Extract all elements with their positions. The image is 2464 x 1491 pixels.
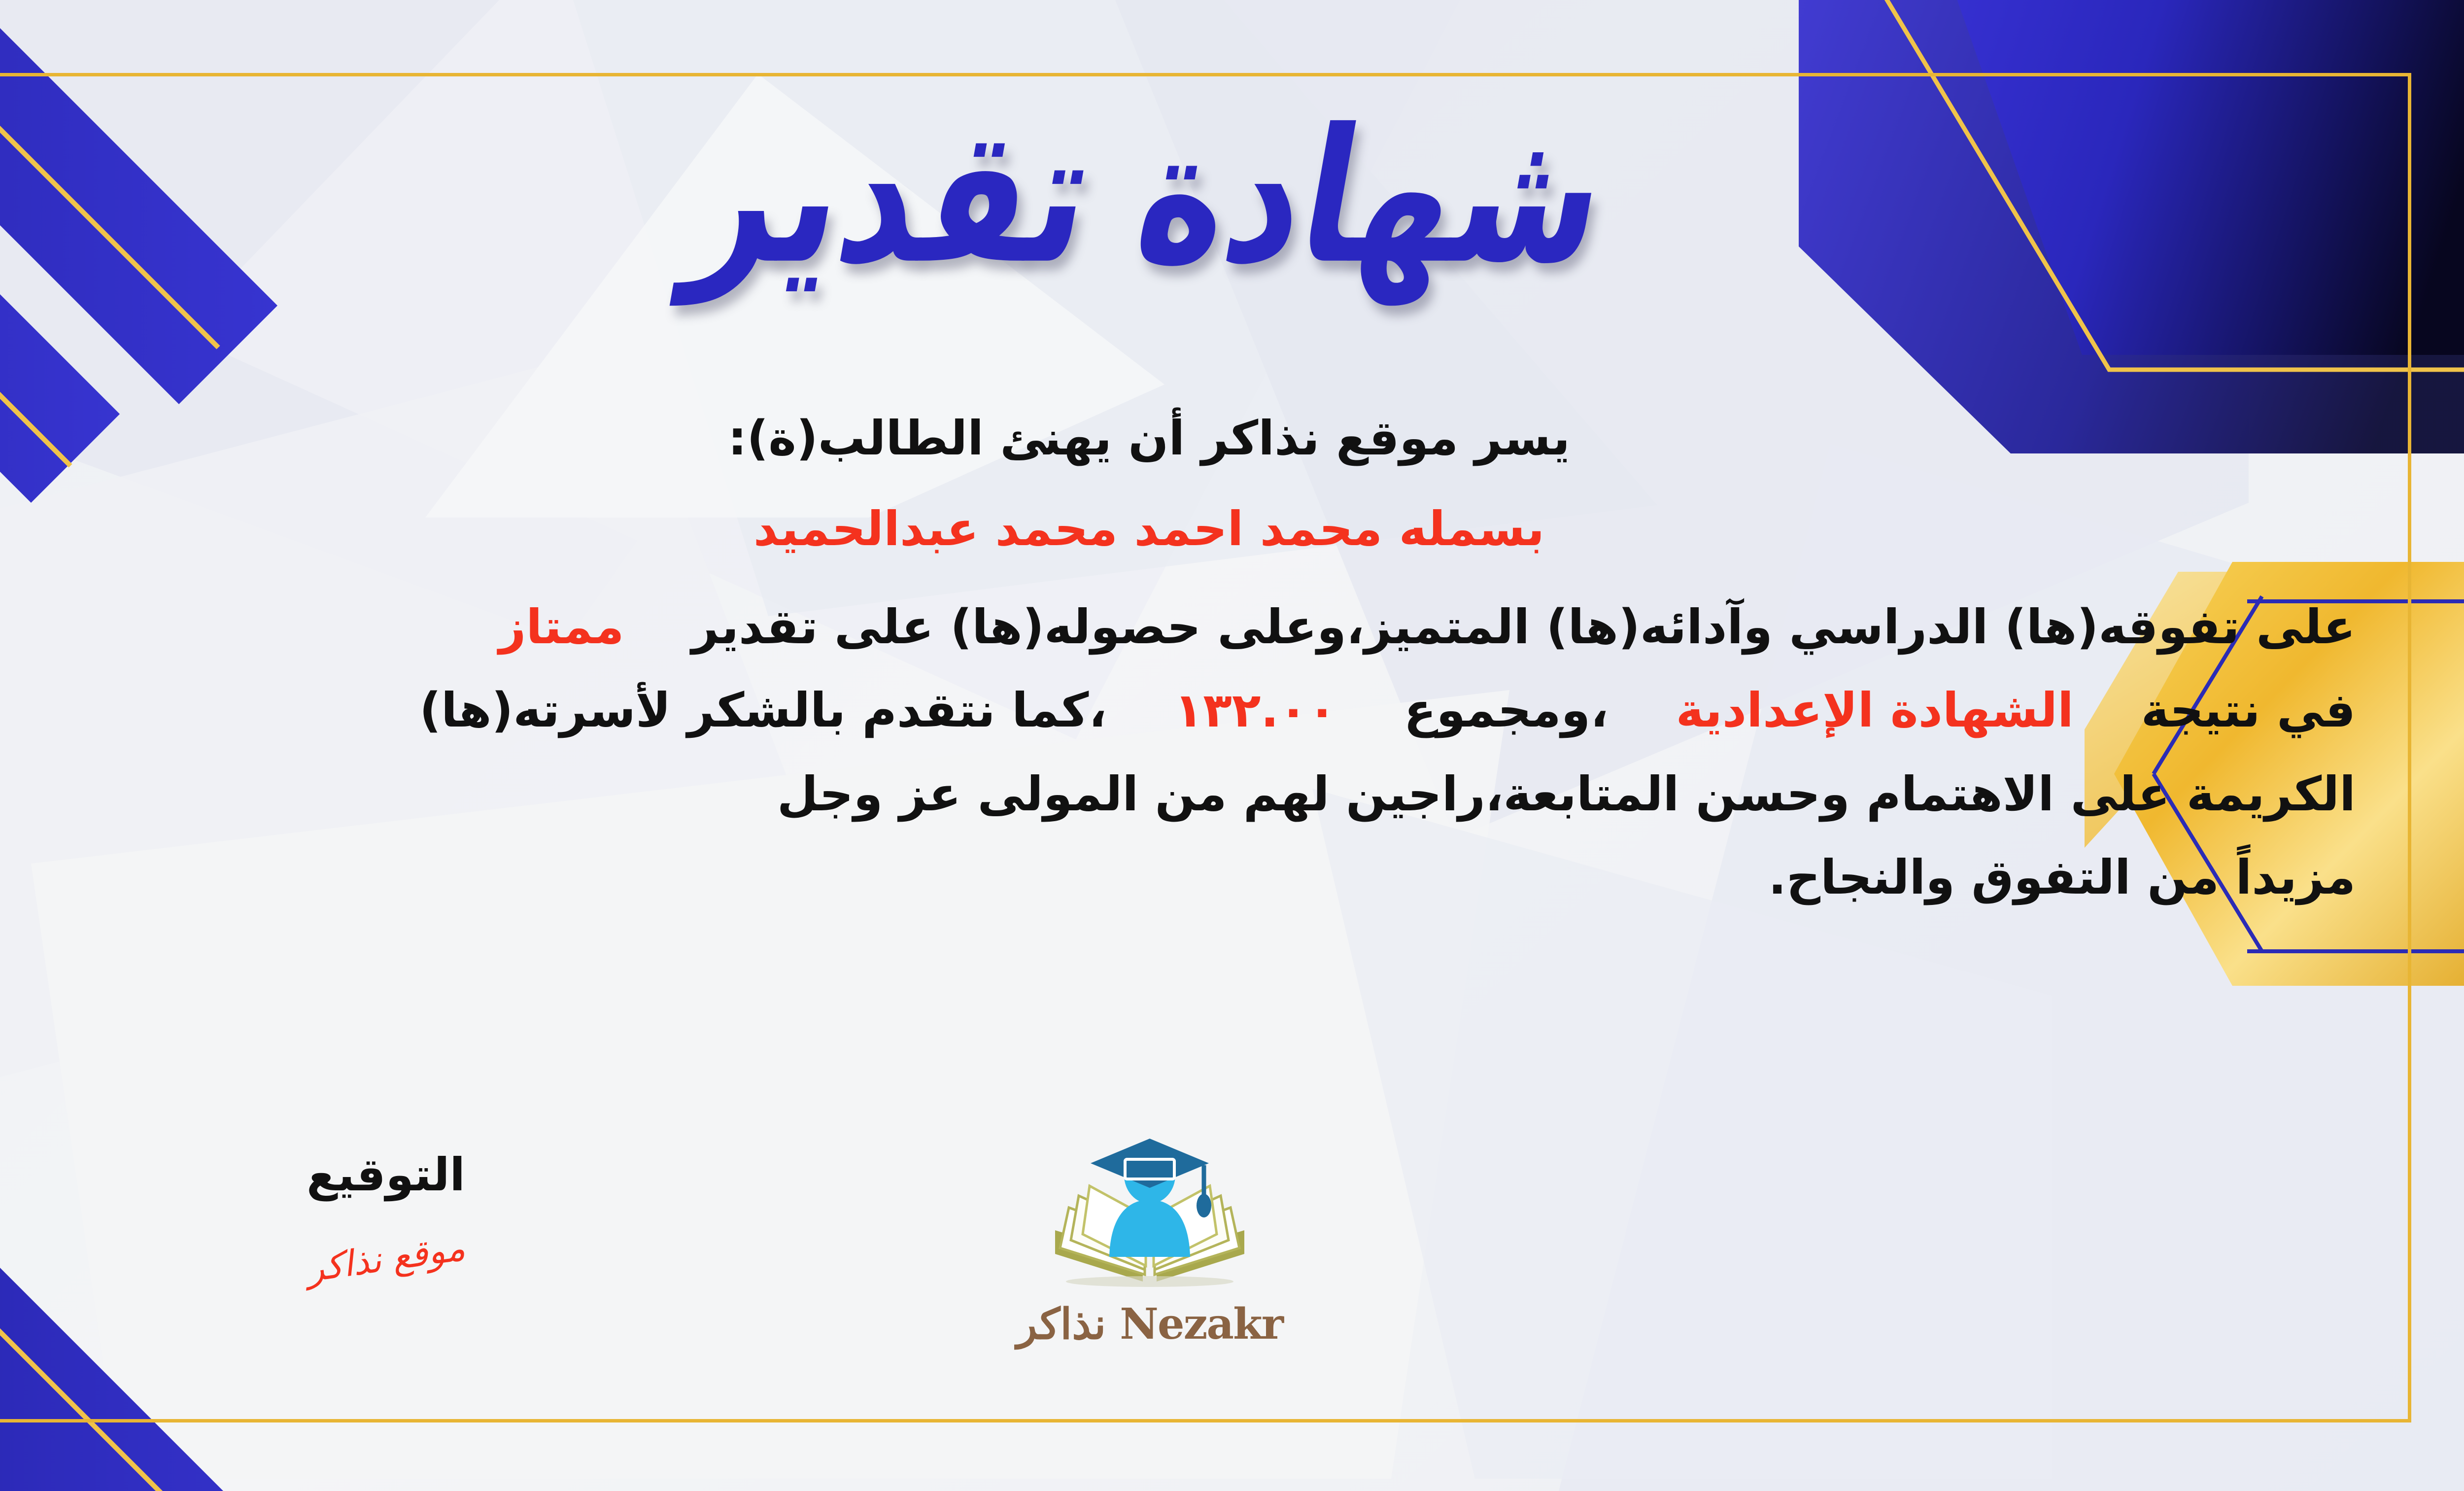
certificate-title-area: شهادة تقدير [0,74,2464,320]
signature-block: التوقيع موقع نذاكر [208,1148,563,1279]
citation-line-3: الكريمة على الاهتمام وحسن المتابعة،راجين… [0,760,2356,829]
certificate-page: شهادة تقدير يسر موقع نذاكر أن يهنئ الطال… [0,0,2464,1491]
certificate-body: يسر موقع نذاكر أن يهنئ الطالب(ة): بسمله … [0,404,2356,927]
citation-part4: ،كما نتقدم بالشكر لأسرته(ها) [419,683,1107,738]
total-score: ١٣٢.٠٠ [1174,683,1336,738]
citation-part1: على تفوقه(ها) الدراسي وآدائه(ها) المتميز… [691,599,2356,655]
exam-name: الشهادة الإعدادية [1676,683,2074,738]
logo-wordmark: Nezakr نذاكر [962,1299,1337,1349]
citation-part3: ،ومجموع [1404,683,1608,738]
citation-line-4: مزيداً من التفوق والنجاح. [0,843,2356,912]
site-logo: Nezakr نذاكر [962,1134,1337,1349]
citation-line-2: في نتيجة الشهادة الإعدادية ،ومجموع ١٣٢.٠… [0,676,2356,745]
page-title: شهادة تقدير [679,105,1619,290]
student-name: بسمله محمد احمد محمد عبدالحميد [0,501,2356,556]
signature-label: التوقيع [208,1148,563,1201]
citation-line-1: على تفوقه(ها) الدراسي وآدائه(ها) المتميز… [0,593,2356,661]
graduate-book-logo-icon [1046,1134,1253,1296]
grade-value: ممتاز [499,599,624,655]
greeting-text: يسر موقع نذاكر أن يهنئ الطالب(ة): [0,404,2356,473]
citation-paragraph: على تفوقه(ها) الدراسي وآدائه(ها) المتميز… [0,593,2356,912]
citation-part2: في نتيجة [2141,683,2356,738]
